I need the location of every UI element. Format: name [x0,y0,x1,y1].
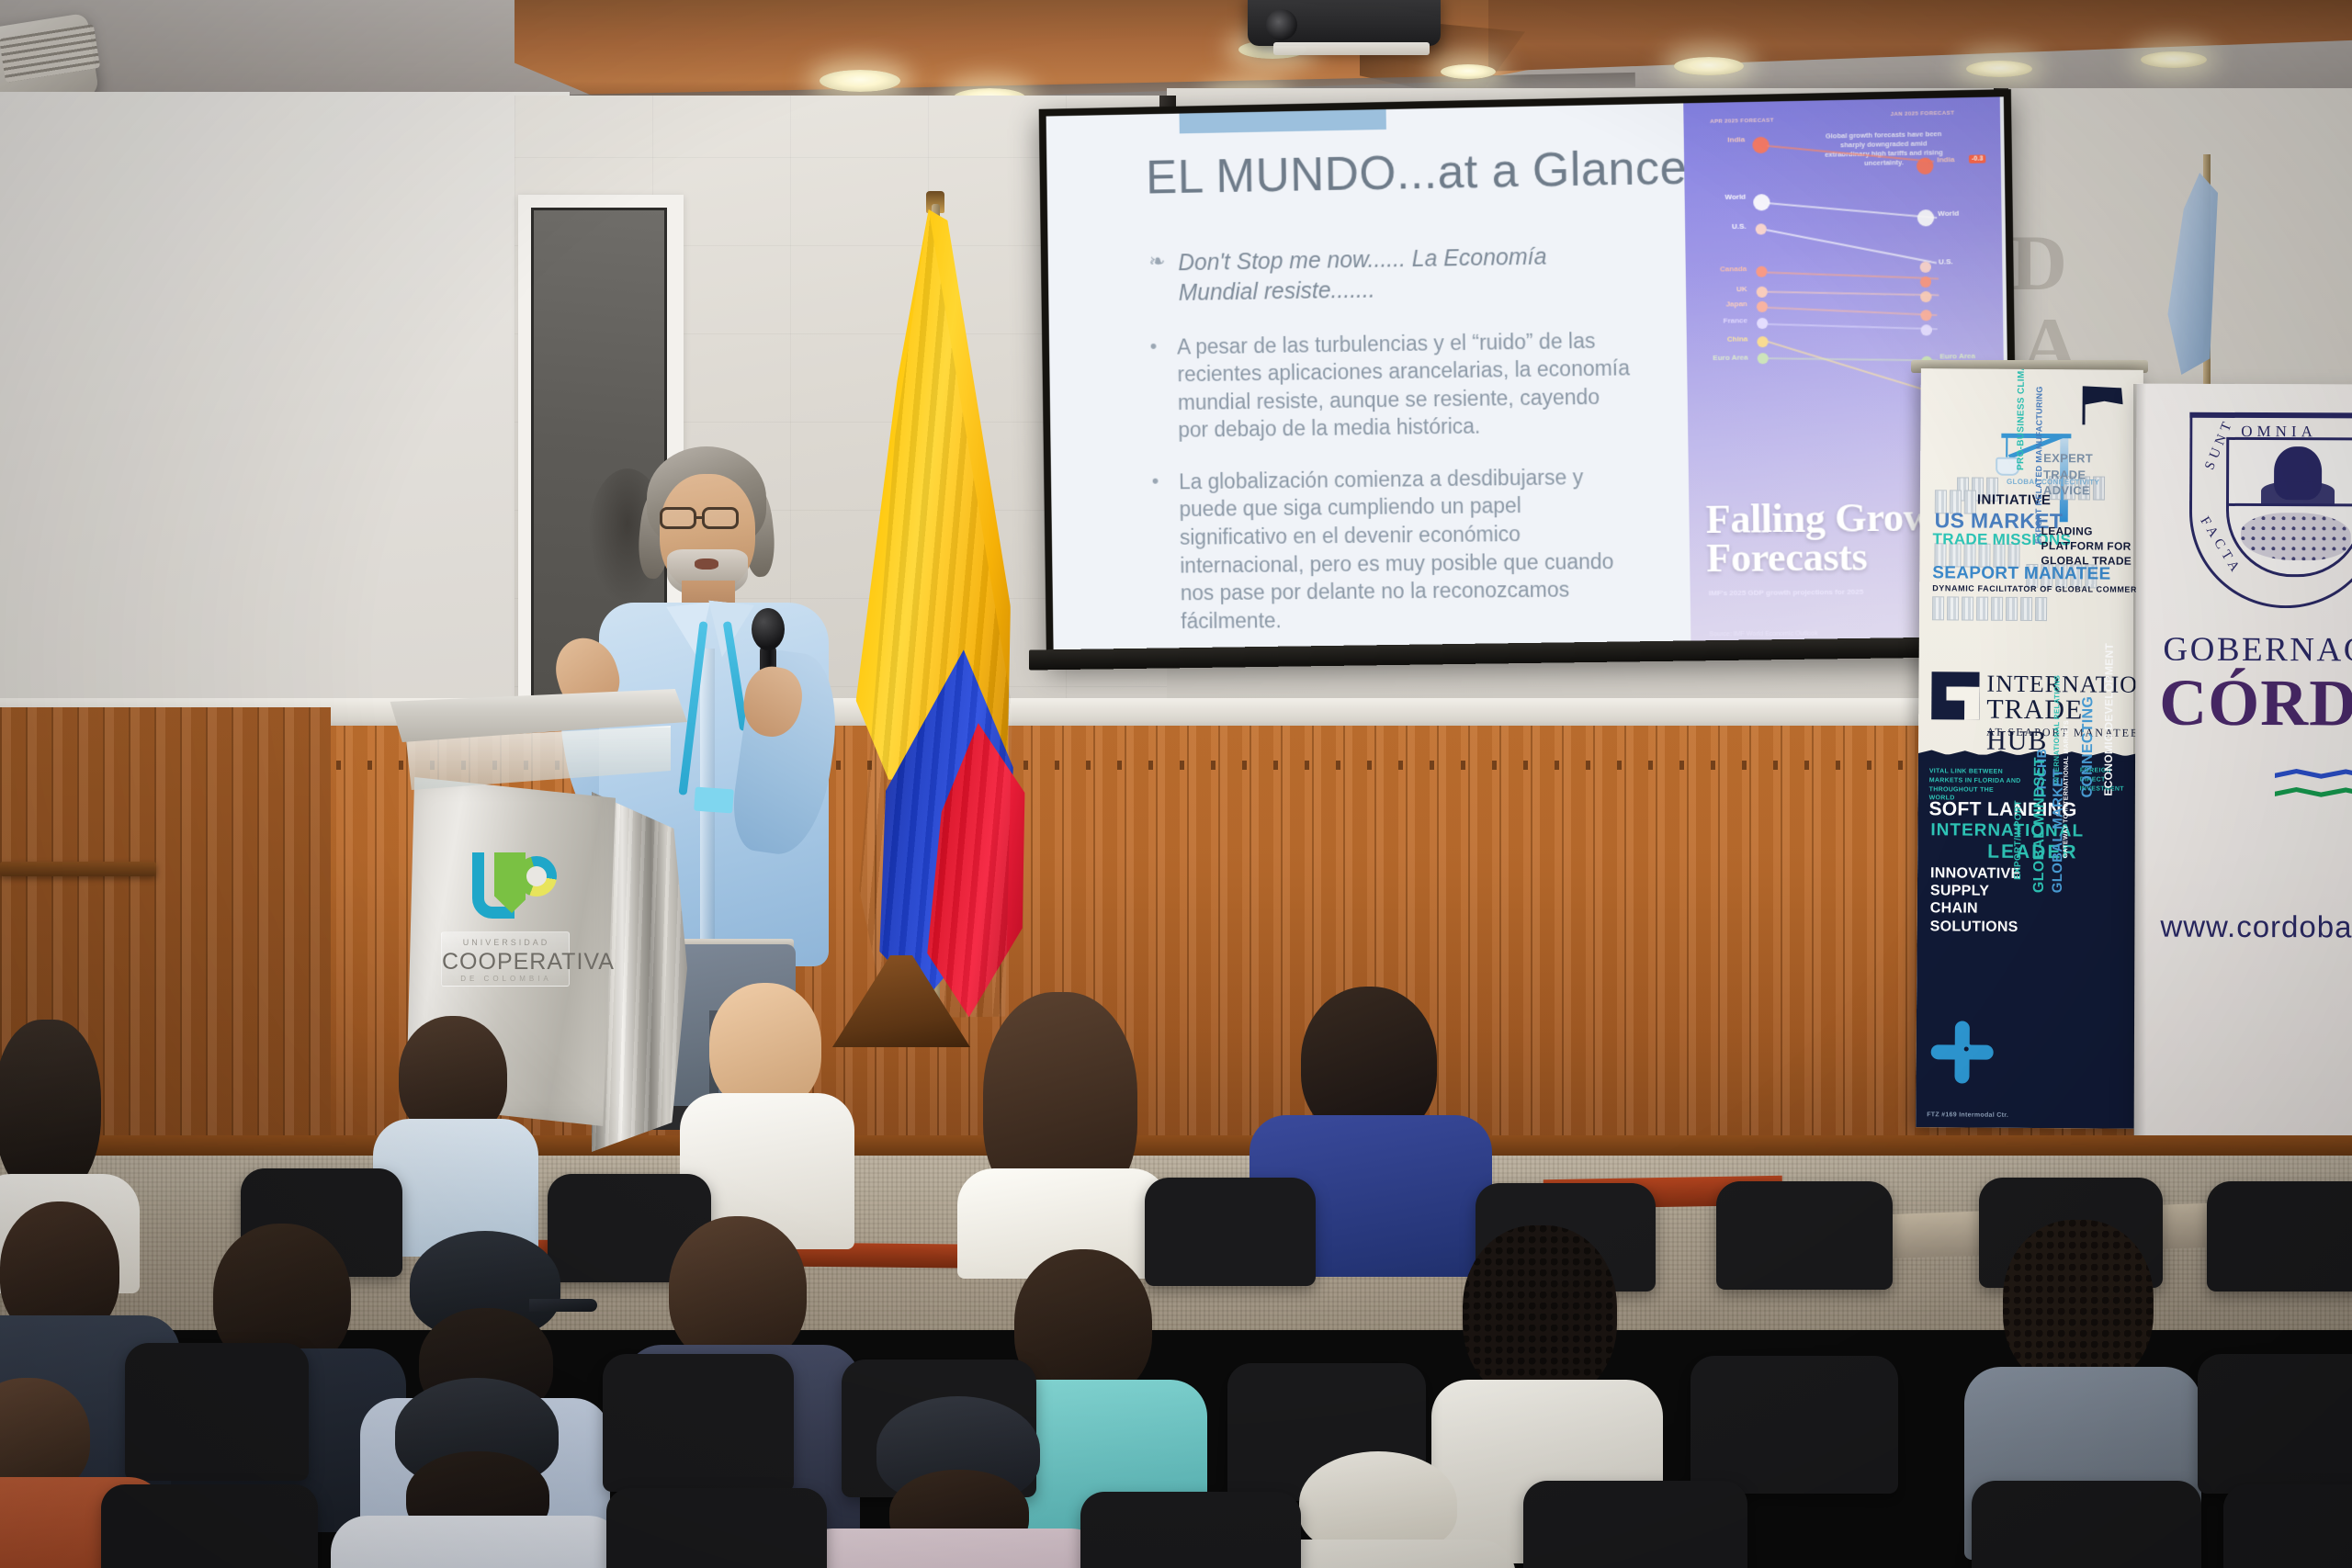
banner-word-export-related-manufacturing: EXPORT RELATED MANUFACTURING [2034,386,2044,544]
chart-label-canada: Canada [1695,265,1747,274]
ceiling-downlight [820,70,900,92]
banner-word-leading-platform: LEADING PLATFORM FOR GLOBAL TRADE [2041,524,2142,569]
chart-point-canada-right [1920,276,1931,288]
slide-title: EL MUNDO...at a Glance [1146,140,1713,205]
audience-chair[interactable] [1972,1481,2201,1568]
cordoba-coat-of-arms: OMNIA SUNT FACTA [2189,415,2352,609]
projection-screen: EL MUNDO...at a Glance ❧ Don't Stop me n… [1039,89,2019,663]
wave-icon-blue [2275,768,2352,781]
banner-word-expert-trade-advice: EXPERT TRADE ADVICE [2043,450,2131,499]
chart-point-france-left [1757,318,1768,329]
chart-label-india: India [1697,135,1746,144]
slide-bullet-item: • La globalización comienza a desdibujar… [1152,462,1637,635]
head-bald [709,983,821,1110]
flag-stripe-yellow [847,209,1013,781]
wall-rail [0,862,156,876]
projection-screen-surface: EL MUNDO...at a Glance ❧ Don't Stop me n… [1046,96,2012,656]
flag-icon [2085,386,2123,412]
ucc-logo-line-top: UNIVERSIDAD [442,938,571,947]
presentation-photo-scene: D A EL MUNDO...at a Glance ❧ Don't Stop … [0,0,2352,1568]
hair-curly [1463,1225,1617,1402]
trade-hub-logo-icon [1931,671,1979,719]
chart-label-france: France [1692,316,1748,325]
presentation-slide: EL MUNDO...at a Glance ❧ Don't Stop me n… [1046,96,2012,656]
wall-ghost-letter-d: D [2010,217,2067,309]
banner-word-pro-business-climate: PRO-BUSINESS CLIMATE [2016,368,2027,470]
bullet-marker: • [1152,468,1169,635]
ceiling-downlight [2141,51,2207,68]
cap-brim [529,1299,597,1312]
chart-label-euro-area: Euro Area [1689,353,1748,362]
crane-icon-hook [2006,437,2007,457]
chart-x-label-left: APR 2025 FORECAST [1710,118,1775,125]
bullet-marker: ❧ [1148,249,1166,310]
chart-point-canada-left [1756,266,1767,277]
hair [0,1020,101,1200]
chart-source: Source: IMF World Economic Outlook [1709,630,1817,637]
slide-accent-bar [1180,109,1386,133]
chart-label-india-right: India [1937,155,1954,164]
chart-label-world-right: World [1938,209,1959,218]
chart-label-us: U.S. [1705,222,1746,231]
ucc-logo-c-swirl [516,856,557,897]
microphone-head [752,608,785,650]
hair-short-curly [2003,1220,2154,1389]
head [669,1216,807,1365]
chart-point-china-left [1757,336,1768,347]
audience-chair[interactable] [2223,1484,2352,1568]
bullet-text: La globalización comienza a desdibujarse… [1179,462,1637,635]
audience-chair[interactable] [2207,1181,2352,1292]
chart-point-us-left [1756,223,1767,234]
chart-label-us-right: U.S. [1939,257,1953,265]
chart-point-world-right [1917,209,1935,226]
bullet-marker: • [1149,333,1165,444]
chart-label-uk: UK [1706,285,1747,294]
chart-x-label-right: JAN 2025 FORECAST [1890,111,1955,118]
audience [0,974,2352,1568]
crest-bust-figure [2274,446,2322,500]
ceiling-downlight [1441,64,1496,79]
crest-motto-top: OMNIA [2241,423,2317,441]
chart-point-euro-left [1758,353,1769,364]
audience-chair[interactable] [1690,1356,1898,1494]
chart-point-france-right [1921,324,1932,335]
chart-point-uk-right [1920,291,1931,302]
chart-line-japan [1768,307,1937,316]
torso [796,1529,1108,1568]
chart-line-us [1767,229,1937,263]
audience-person [340,1378,616,1568]
banner-website-url: www.cordoba.gov.co [2160,909,2352,945]
banner-word-global-market: GLOBAL MARKET [2050,769,2066,893]
mouth [695,558,718,570]
chart-label-china: China [1709,334,1747,344]
ceiling-downlight [1674,57,1744,75]
container-blocks-icon [1932,596,2047,621]
banner-word-dynamic-facilitator: DYNAMIC FACILITATOR OF GLOBAL COMMERCE [1932,583,2143,594]
slide-bullet-list: ❧ Don't Stop me now...... La Economía Mu… [1148,241,1639,656]
chart-line-uk [1768,291,1939,296]
banner-word-innovative-supply-chain: INNOVATIVE SUPPLY CHAIN SOLUTIONS [1930,864,2041,936]
colombia-flag [847,209,1017,1020]
ucc-logo-mark [472,852,557,920]
chart-point-japan-right [1920,310,1931,321]
chart-line-world [1768,202,1937,219]
projector-ceiling-plate [1273,42,1430,55]
audience-person [814,1396,1090,1568]
banner-cordoba-label: CÓRDOBA [2159,665,2352,742]
bullet-text: A pesar de las turbulencias y el “ruido”… [1177,326,1634,445]
ucc-logo-line-main: COOPERATIVA [442,949,571,976]
banner-word-export-import: EXPORT/IMPORT [2013,800,2024,880]
banner-word-connecting: CONNECTING [2080,696,2098,798]
podium-logo: UNIVERSIDAD COOPERATIVA DE COLOMBIA [441,852,570,990]
chart-line-canada [1767,272,1938,279]
chart-line-france [1768,323,1937,330]
chart-point-uk-left [1757,287,1768,298]
crest-jaguar [2241,513,2351,560]
audience-chair[interactable] [2198,1354,2352,1494]
audience-chair[interactable] [1080,1492,1301,1568]
chart-badge-india: -0.3 [1969,154,1986,163]
slide-bullet-item: • A pesar de las turbulencias y el “ruid… [1149,326,1634,445]
glasses-icon [658,507,759,531]
audience-chair[interactable] [606,1488,827,1568]
torso [331,1516,625,1568]
chart-label-world: World [1700,193,1747,202]
audience-chair[interactable] [101,1484,318,1568]
banner-word-economic-development: ECONOMIC DEVELOPMENT [2102,643,2116,796]
audience-chair[interactable] [1523,1481,1747,1568]
projector-lens-icon [1266,9,1297,40]
chart-point-us-right [1920,262,1931,273]
audience-person [944,992,1174,1268]
chart-label-japan: Japan [1693,299,1747,309]
wave-icon-green [2275,786,2352,799]
badge [694,787,734,814]
chart-point-india-right [1917,158,1934,175]
slide-bullet-item: ❧ Don't Stop me now...... La Economía Mu… [1148,241,1633,310]
audience-chair[interactable] [1716,1181,1893,1290]
chart-point-japan-left [1757,301,1768,312]
ceiling-downlight [1966,61,2032,77]
bullet-text: Don't Stop me now...... La Economía Mund… [1178,241,1633,309]
audience-chair[interactable] [603,1354,794,1492]
banner-word-global-mindset: GLOBAL MINDSET [2031,757,2049,893]
